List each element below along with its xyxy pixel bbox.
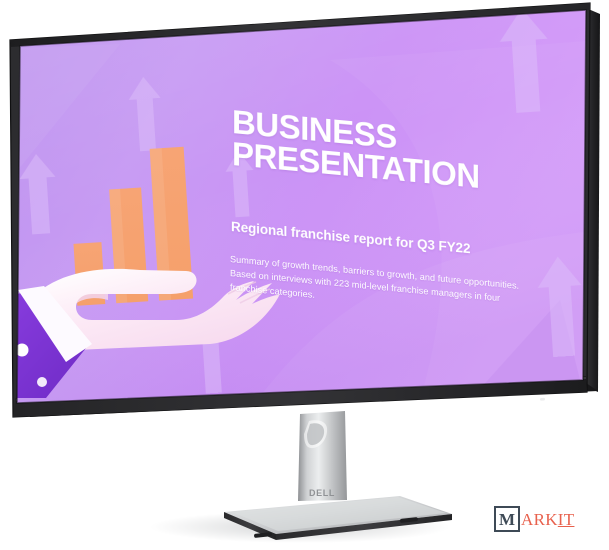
slide-artwork xyxy=(0,6,600,410)
monitor-stand: DELL xyxy=(298,411,347,501)
monitor-illustration: DELL xyxy=(0,0,609,550)
product-photo-scene: DELL BUSINESS PRESENTATION Regional fran… xyxy=(0,0,609,550)
power-led-indicator xyxy=(540,398,545,401)
watermark-text: ARKIT xyxy=(521,511,574,528)
cuff-dot xyxy=(2,318,10,326)
cuff-dot xyxy=(37,377,47,387)
cuff-dot xyxy=(0,365,8,376)
markit-watermark: M ARKIT xyxy=(494,506,574,532)
dell-logo: DELL xyxy=(309,488,335,498)
watermark-text-ark: ARK xyxy=(521,510,558,529)
watermark-initial: M xyxy=(494,506,520,532)
watermark-text-it: IT xyxy=(558,510,575,529)
